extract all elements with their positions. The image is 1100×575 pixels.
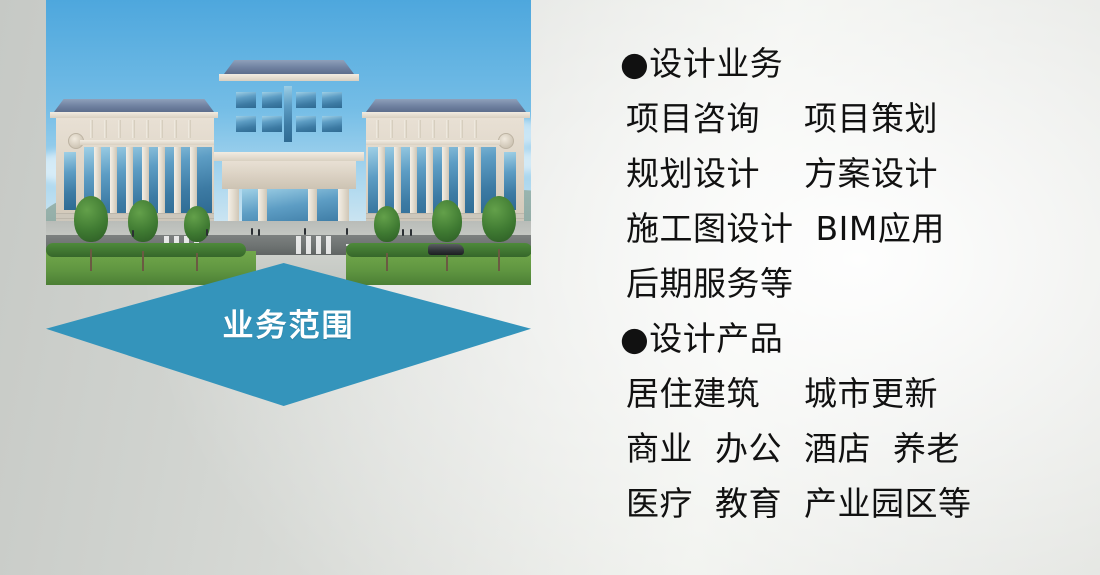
building-column xyxy=(426,147,433,213)
pedestrian-figure xyxy=(251,228,253,235)
attic-mullion xyxy=(132,120,135,138)
portico-wall xyxy=(222,161,356,189)
attic-mullion xyxy=(376,120,379,138)
attic-mullion xyxy=(390,120,393,138)
section-heading-design-products: ●设计产品 xyxy=(620,311,1070,366)
building-column xyxy=(126,147,133,213)
crosswalk-stripe xyxy=(326,236,331,254)
pedestrian-figure xyxy=(304,228,306,235)
building-column xyxy=(394,147,401,213)
portico-cornice xyxy=(214,152,364,161)
content-line-medical-education-industrial-park: 医疗 教育 产业园区等 xyxy=(626,476,1070,531)
content-line-commercial-office-hotel-senior: 商业 办公 酒店 养老 xyxy=(626,421,1070,476)
pedestrian-figure xyxy=(346,228,348,235)
building-column xyxy=(110,147,117,213)
center-window xyxy=(236,116,256,132)
center-window xyxy=(322,116,342,132)
content-line-masterplan-scheme: 规划设计 方案设计 xyxy=(626,146,1070,201)
pedestrian-figure xyxy=(206,229,208,236)
end-bay-window-left xyxy=(64,152,76,210)
content-line-construction-bim: 施工图设计 BIM应用 xyxy=(626,201,1070,256)
tree-trunk xyxy=(196,253,198,271)
attic-mullion xyxy=(174,120,177,138)
attic-mullion xyxy=(188,120,191,138)
center-window xyxy=(262,92,282,108)
hedge-row xyxy=(46,243,246,257)
slide-canvas: 业务范围 ●设计业务 项目咨询 项目策划 规划设计 方案设计 施工图设计 BIM… xyxy=(0,0,1100,575)
business-scope-banner-label: 业务范围 xyxy=(46,306,531,346)
attic-mullion xyxy=(104,120,107,138)
crosswalk-stripe xyxy=(306,236,311,254)
band-cornice-right xyxy=(366,140,500,145)
crosswalk-stripe xyxy=(296,236,301,254)
building-column xyxy=(190,147,197,213)
building-column xyxy=(174,147,181,213)
tree-trunk xyxy=(90,249,92,271)
attic-mullion xyxy=(432,120,435,138)
tree-canopy xyxy=(374,206,400,242)
attic-mullion xyxy=(460,120,463,138)
attic-mullion xyxy=(90,120,93,138)
content-line-residential-urban-renewal: 居住建筑 城市更新 xyxy=(626,366,1070,421)
car-shape xyxy=(428,244,464,255)
band-cornice-left xyxy=(80,140,214,145)
building-column xyxy=(158,147,165,213)
attic-mullion xyxy=(404,120,407,138)
center-window xyxy=(296,116,316,132)
crosswalk-stripe xyxy=(316,236,321,254)
tree-canopy xyxy=(184,206,210,242)
center-window xyxy=(262,116,282,132)
building-cornice-center xyxy=(219,74,359,81)
content-line-post-service: 后期服务等 xyxy=(626,256,1070,311)
pedestrian-figure xyxy=(402,229,404,236)
building-column xyxy=(378,147,385,213)
building-column xyxy=(474,147,481,213)
center-window xyxy=(322,92,342,108)
content-text-column: ●设计业务 项目咨询 项目策划 规划设计 方案设计 施工图设计 BIM应用 后期… xyxy=(620,36,1070,531)
tree-trunk xyxy=(386,253,388,271)
attic-mullion xyxy=(146,120,149,138)
building-column xyxy=(410,147,417,213)
attic-mullion xyxy=(446,120,449,138)
building-roof-right xyxy=(366,99,526,112)
wall-medallion-icon xyxy=(498,133,514,149)
building-column xyxy=(458,147,465,213)
pedestrian-figure xyxy=(410,229,412,236)
attic-mullion xyxy=(474,120,477,138)
content-line-consulting-planning: 项目咨询 项目策划 xyxy=(626,91,1070,146)
center-window xyxy=(296,92,316,108)
attic-mullion xyxy=(118,120,121,138)
tree-trunk xyxy=(498,249,500,271)
building-roof-left xyxy=(54,99,214,112)
building-photo xyxy=(46,0,531,285)
tree-canopy xyxy=(74,196,108,242)
attic-mullion xyxy=(418,120,421,138)
pedestrian-figure xyxy=(132,230,134,237)
attic-mullion xyxy=(160,120,163,138)
center-window xyxy=(236,92,256,108)
pedestrian-figure xyxy=(258,229,260,236)
tree-canopy xyxy=(482,196,516,242)
center-tall-window xyxy=(284,86,292,142)
section-heading-design-services: ●设计业务 xyxy=(620,36,1070,91)
tree-canopy xyxy=(432,200,462,242)
building-roof-center xyxy=(224,60,354,74)
tree-trunk xyxy=(142,251,144,271)
